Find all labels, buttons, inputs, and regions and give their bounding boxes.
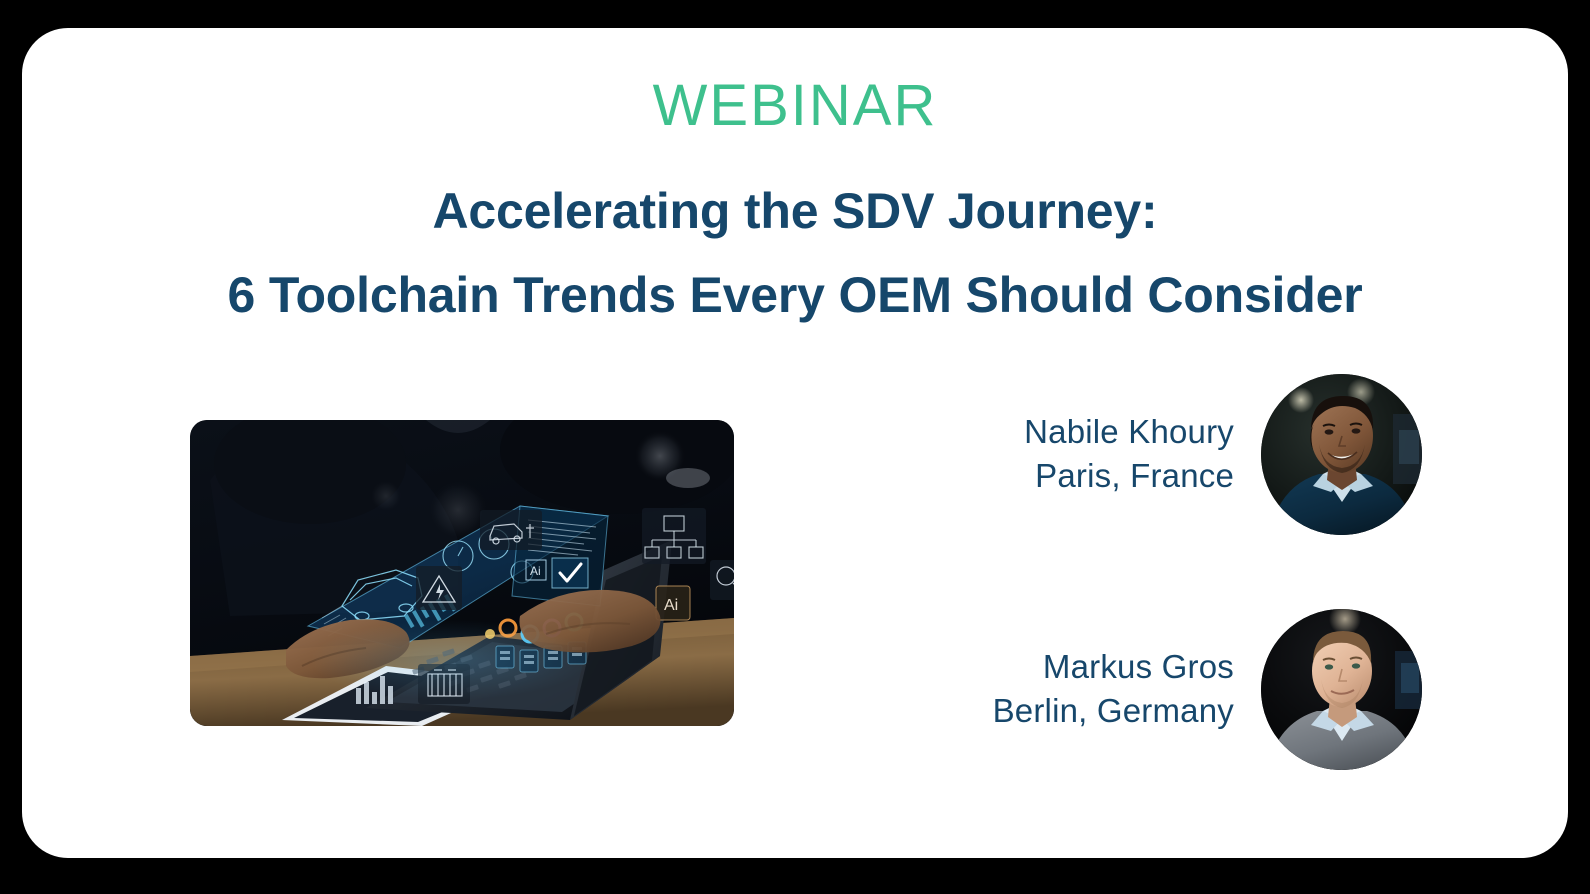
hero-image: Ai [190, 420, 734, 726]
speaker-text: Nabile Khoury Paris, France [1024, 410, 1261, 497]
speaker-entry: Nabile Khoury Paris, France [902, 373, 1422, 535]
page-title: Accelerating the SDV Journey: 6 Toolchai… [22, 180, 1568, 326]
speakers-list: Nabile Khoury Paris, France [902, 373, 1442, 793]
svg-text:Ai: Ai [664, 597, 678, 614]
title-line-1: Accelerating the SDV Journey: [22, 180, 1568, 242]
avatar-portrait [1261, 374, 1422, 535]
speaker-name: Markus Gros [993, 645, 1234, 689]
speaker-location: Berlin, Germany [993, 689, 1234, 733]
eyebrow-label: WEBINAR [22, 77, 1568, 135]
svg-text:Ai: Ai [530, 564, 541, 578]
speaker-name: Nabile Khoury [1024, 410, 1234, 454]
hero-illustration: Ai [190, 420, 734, 726]
webinar-promo-slide: WEBINAR Accelerating the SDV Journey: 6 … [0, 0, 1590, 894]
speaker-location: Paris, France [1024, 454, 1234, 498]
speaker-text: Markus Gros Berlin, Germany [993, 645, 1261, 732]
speaker-avatar-nabile-khoury [1261, 374, 1422, 535]
content-card: WEBINAR Accelerating the SDV Journey: 6 … [22, 28, 1568, 858]
speaker-avatar-markus-gros [1261, 609, 1422, 770]
avatar-portrait [1261, 609, 1422, 770]
title-line-2: 6 Toolchain Trends Every OEM Should Cons… [22, 264, 1568, 326]
speaker-entry: Markus Gros Berlin, Germany [902, 608, 1422, 770]
